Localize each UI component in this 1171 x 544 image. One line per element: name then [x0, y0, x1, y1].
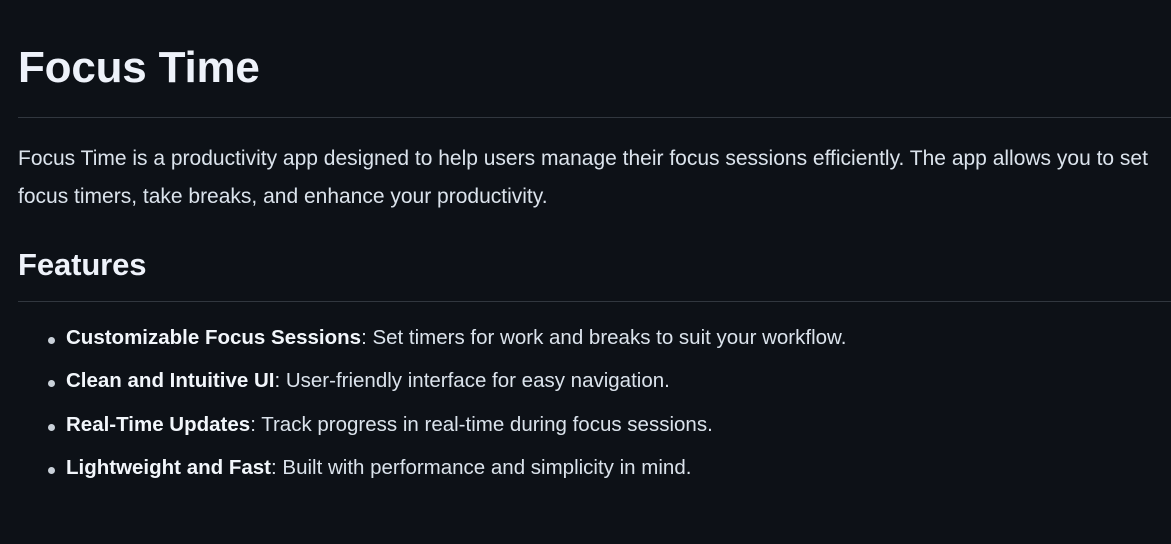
section-heading-features: Features: [18, 216, 1171, 283]
feature-label: Clean and Intuitive UI: [66, 369, 274, 392]
page-title: Focus Time: [18, 0, 1171, 94]
feature-description: : Set timers for work and breaks to suit…: [361, 326, 846, 349]
feature-description: : Track progress in real-time during foc…: [250, 413, 713, 436]
feature-label: Real-Time Updates: [66, 413, 250, 436]
bullet-dot-icon: [48, 337, 55, 344]
list-item: Lightweight and Fast: Built with perform…: [18, 458, 1171, 479]
feature-label: Customizable Focus Sessions: [66, 326, 361, 349]
bullet-dot-icon: [48, 380, 55, 387]
features-list: Customizable Focus Sessions: Set timers …: [18, 302, 1171, 479]
list-item: Customizable Focus Sessions: Set timers …: [18, 328, 1171, 349]
feature-description: : Built with performance and simplicity …: [271, 456, 691, 479]
bullet-dot-icon: [48, 424, 55, 431]
bullet-dot-icon: [48, 467, 55, 474]
list-item: Real-Time Updates: Track progress in rea…: [18, 415, 1171, 436]
feature-description: : User-friendly interface for easy navig…: [274, 369, 669, 392]
readme-document: Focus Time Focus Time is a productivity …: [0, 0, 1171, 544]
feature-label: Lightweight and Fast: [66, 456, 271, 479]
list-item: Clean and Intuitive UI: User-friendly in…: [18, 371, 1171, 392]
intro-paragraph: Focus Time is a productivity app designe…: [18, 118, 1159, 216]
